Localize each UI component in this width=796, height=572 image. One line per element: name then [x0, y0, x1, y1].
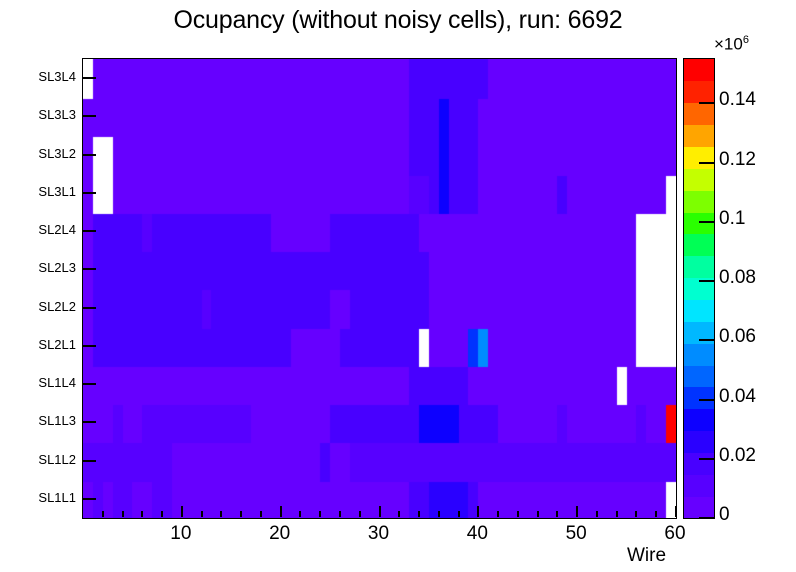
- y-axis-label: SL3L2: [0, 146, 76, 161]
- y-axis-label: SL1L3: [0, 413, 76, 428]
- x-axis-minor-tick: [220, 511, 222, 517]
- y-axis-tick: [82, 230, 96, 232]
- heatmap-plot-area[interactable]: [82, 58, 677, 519]
- y-axis-tick: [82, 154, 96, 156]
- colorbar-band: [684, 299, 714, 321]
- y-axis-label: SL3L1: [0, 184, 76, 199]
- x-axis-minor-tick: [655, 511, 657, 517]
- colorbar-tick-label: 0.08: [719, 267, 756, 289]
- x-axis-minor-tick: [339, 511, 341, 517]
- x-axis-minor-tick: [517, 511, 519, 517]
- x-axis-tick-label: 10: [151, 523, 211, 545]
- y-axis-tick: [82, 307, 96, 309]
- colorbar-tick: [699, 458, 715, 460]
- x-axis-minor-tick: [616, 511, 618, 517]
- colorbar-band: [684, 125, 714, 147]
- colorbar-exponent-base: ×10: [714, 35, 743, 54]
- colorbar-tick-label: 0.06: [719, 326, 756, 348]
- colorbar-tick-label: 0: [719, 504, 730, 526]
- x-axis-tick-label: 20: [250, 523, 310, 545]
- colorbar-tick-label: 0.1: [719, 208, 745, 230]
- x-axis-major-tick: [576, 506, 578, 517]
- y-axis-label: SL2L2: [0, 299, 76, 314]
- colorbar-band: [684, 168, 714, 190]
- y-axis-label: SL2L3: [0, 260, 76, 275]
- x-axis-minor-tick: [497, 511, 499, 517]
- y-axis-label: SL3L3: [0, 107, 76, 122]
- colorbar-tick: [699, 221, 715, 223]
- x-axis-minor-tick: [556, 511, 558, 517]
- page-title: Ocupancy (without noisy cells), run: 669…: [0, 6, 796, 35]
- y-axis-label: SL1L2: [0, 452, 76, 467]
- colorbar-band: [684, 496, 714, 518]
- colorbar-band: [684, 59, 714, 81]
- y-axis-tick: [82, 498, 96, 500]
- colorbar-tick: [699, 399, 715, 401]
- y-axis-tick: [82, 383, 96, 385]
- x-axis-minor-tick: [596, 511, 598, 517]
- x-axis-title: Wire: [627, 545, 666, 567]
- x-axis-tick-label: 50: [546, 523, 606, 545]
- colorbar-band: [684, 103, 714, 125]
- x-axis-minor-tick: [319, 511, 321, 517]
- heatmap-cells[interactable]: [83, 59, 676, 518]
- y-axis-tick: [82, 268, 96, 270]
- x-axis-major-tick: [477, 506, 479, 517]
- x-axis-minor-tick: [161, 511, 163, 517]
- x-axis-minor-tick: [299, 511, 301, 517]
- y-axis-label: SL1L1: [0, 490, 76, 505]
- x-axis-minor-tick: [260, 511, 262, 517]
- colorbar-exponent-power: 6: [743, 34, 749, 46]
- colorbar-exponent-label: ×106: [714, 34, 749, 55]
- colorbar-tick-label: 0.12: [719, 149, 756, 171]
- x-axis-minor-tick: [418, 511, 420, 517]
- x-axis-tick-label: 60: [645, 523, 705, 545]
- x-axis-tick-label: 40: [447, 523, 507, 545]
- x-axis-minor-tick: [458, 511, 460, 517]
- y-axis-tick: [82, 421, 96, 423]
- colorbar-band: [684, 452, 714, 474]
- y-axis-tick: [82, 115, 96, 117]
- colorbar-tick-label: 0.04: [719, 386, 756, 408]
- y-axis-tick: [82, 192, 96, 194]
- colorbar-tick: [699, 280, 715, 282]
- colorbar-band: [684, 212, 714, 234]
- x-axis-major-tick: [181, 506, 183, 517]
- x-axis-major-tick: [379, 506, 381, 517]
- x-axis-minor-tick: [537, 511, 539, 517]
- y-axis-label: SL1L4: [0, 375, 76, 390]
- colorbar-band: [684, 81, 714, 103]
- colorbar-tick: [699, 102, 715, 104]
- x-axis-major-tick: [675, 506, 677, 517]
- colorbar-tick: [699, 517, 715, 519]
- y-axis-tick: [82, 460, 96, 462]
- x-axis-tick-label: 30: [349, 523, 409, 545]
- colorbar-band: [684, 234, 714, 256]
- x-axis-minor-tick: [122, 511, 124, 517]
- x-axis-minor-tick: [359, 511, 361, 517]
- colorbar-band: [684, 256, 714, 278]
- x-axis-minor-tick: [438, 511, 440, 517]
- x-axis-minor-tick: [201, 511, 203, 517]
- canvas-root: Ocupancy (without noisy cells), run: 669…: [0, 0, 796, 572]
- y-axis-tick: [82, 345, 96, 347]
- colorbar[interactable]: [683, 58, 715, 519]
- x-axis-minor-tick: [398, 511, 400, 517]
- x-axis-minor-tick: [240, 511, 242, 517]
- x-axis-minor-tick: [141, 511, 143, 517]
- y-axis-label: SL3L4: [0, 69, 76, 84]
- colorbar-band: [684, 431, 714, 453]
- colorbar-band: [684, 409, 714, 431]
- colorbar-tick-label: 0.02: [719, 445, 756, 467]
- colorbar-band: [684, 146, 714, 168]
- colorbar-tick: [699, 162, 715, 164]
- y-axis-label: SL2L4: [0, 222, 76, 237]
- x-axis-minor-tick: [635, 511, 637, 517]
- colorbar-band: [684, 190, 714, 212]
- y-axis-tick: [82, 77, 96, 79]
- colorbar-tick-label: 0.14: [719, 89, 756, 111]
- colorbar-tick: [699, 339, 715, 341]
- colorbar-band: [684, 365, 714, 387]
- x-axis-minor-tick: [102, 511, 104, 517]
- colorbar-band: [684, 474, 714, 496]
- colorbar-band: [684, 343, 714, 365]
- x-axis-major-tick: [280, 506, 282, 517]
- y-axis-label: SL2L1: [0, 337, 76, 352]
